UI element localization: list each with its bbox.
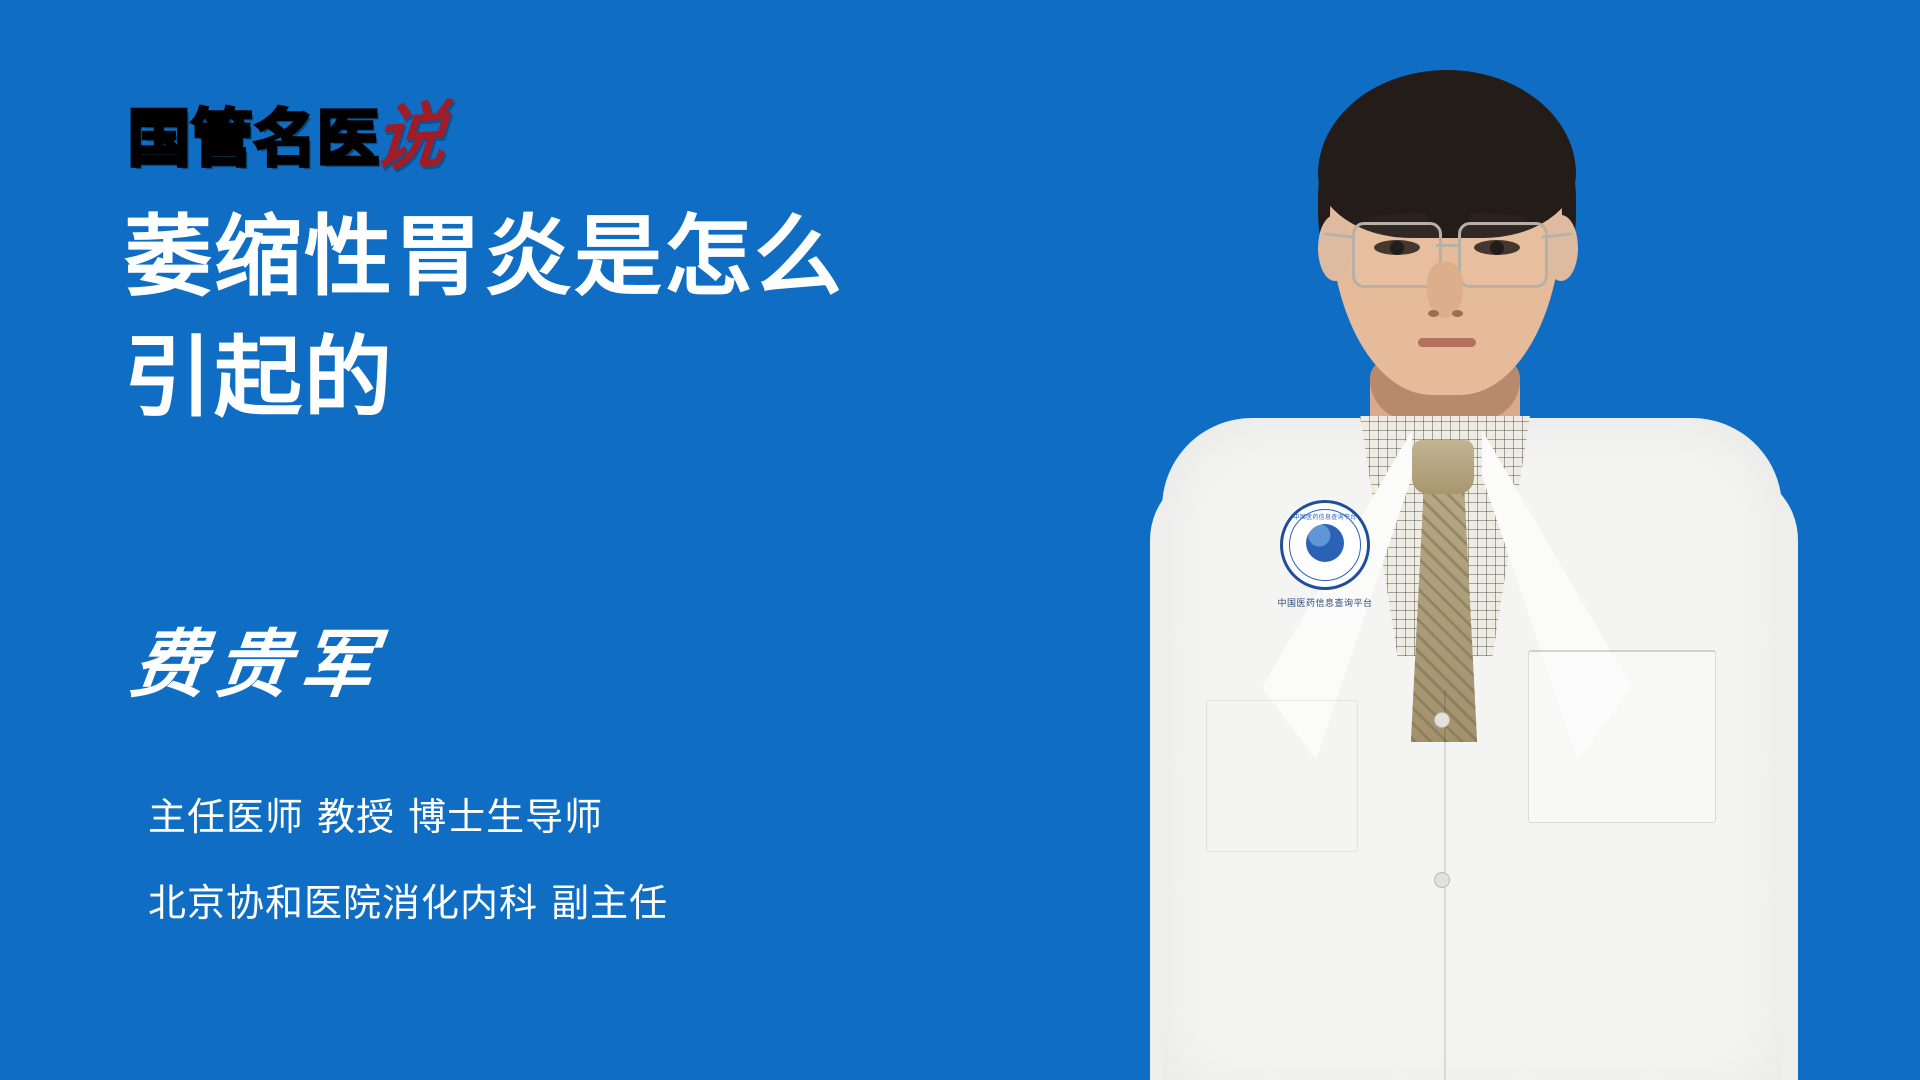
mouth: [1418, 338, 1476, 347]
slide-title: 萎缩性胃炎是怎么 引起的: [124, 196, 1024, 439]
eyeglasses-bridge: [1436, 244, 1458, 247]
video-cover-slide: 国管名医 说 萎缩性胃炎是怎么 引起的 费贵军 主任医师 教授 博士生导师 北京…: [0, 0, 1920, 1080]
globe-emblem-icon: [1306, 524, 1344, 562]
eyeglasses-lens-right: [1458, 222, 1548, 288]
program-logo-main-text: 国管名医: [128, 108, 380, 170]
speaker-credential-line-1: 主任医师 教授 博士生导师: [148, 798, 668, 836]
badge-caption: 中国医药信息查询平台: [1248, 596, 1402, 609]
coat-pocket-left: [1206, 700, 1358, 852]
speaker-credentials: 主任医师 教授 博士生导师 北京协和医院消化内科 副主任: [148, 798, 668, 922]
coat-badge: 中国医药信息查询平台 中国医药信息查询平台: [1280, 500, 1370, 590]
necktie-knot: [1412, 440, 1474, 494]
speaker-credential-line-2: 北京协和医院消化内科 副主任: [148, 884, 668, 922]
slide-title-line-1: 萎缩性胃炎是怎么: [124, 196, 1024, 317]
program-logo: 国管名医 说: [128, 98, 446, 170]
slide-title-line-2: 引起的: [124, 317, 1024, 438]
doctor-portrait: 中国医药信息查询平台 中国医药信息查询平台: [1030, 0, 1920, 1080]
speaker-name: 费贵军: [127, 628, 388, 702]
ear-right: [1544, 215, 1578, 281]
coat-pocket-right: [1528, 650, 1716, 823]
ear-left: [1318, 215, 1352, 281]
nostril-right: [1452, 310, 1463, 317]
coat-button-bottom: [1434, 872, 1450, 888]
program-logo-accent-text: 说: [371, 101, 448, 172]
badge-top-text: 中国医药信息查询平台: [1280, 512, 1370, 521]
hair: [1318, 70, 1576, 238]
coat-button-top: [1434, 712, 1450, 728]
nostril-left: [1428, 310, 1439, 317]
